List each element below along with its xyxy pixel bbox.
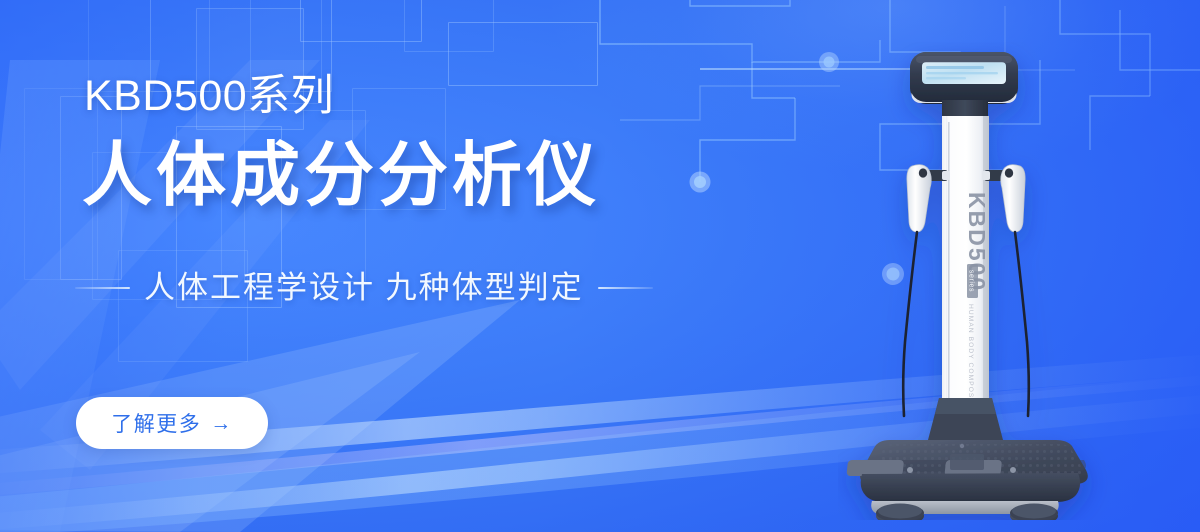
promo-banner: KBD500 series HUMAN BODY COMPOSITION ANA… (0, 0, 1200, 532)
product-series-label: KBD500系列 (84, 70, 334, 122)
page-title: 人体成分分析仪 (82, 132, 600, 218)
device-series-badge: series (967, 270, 974, 292)
subtitle-text: 人体工程学设计 九种体型判定 (144, 268, 584, 308)
display-screen (910, 52, 1018, 104)
banner-content: KBD500系列 人体成分分析仪 人体工程学设计 九种体型判定 了解更多 → (0, 0, 720, 532)
foot-platform (846, 440, 1087, 520)
subtitle-dash-right (598, 287, 653, 289)
subtitle-row: 人体工程学设计 九种体型判定 (75, 268, 653, 308)
arrow-right-icon: → (210, 413, 233, 434)
product-image-analyzer: KBD500 series HUMAN BODY COMPOSITION ANA… (838, 42, 1158, 520)
learn-more-label: 了解更多 (111, 408, 201, 438)
subtitle-dash-left (75, 287, 130, 289)
learn-more-button[interactable]: 了解更多 → (76, 397, 268, 449)
